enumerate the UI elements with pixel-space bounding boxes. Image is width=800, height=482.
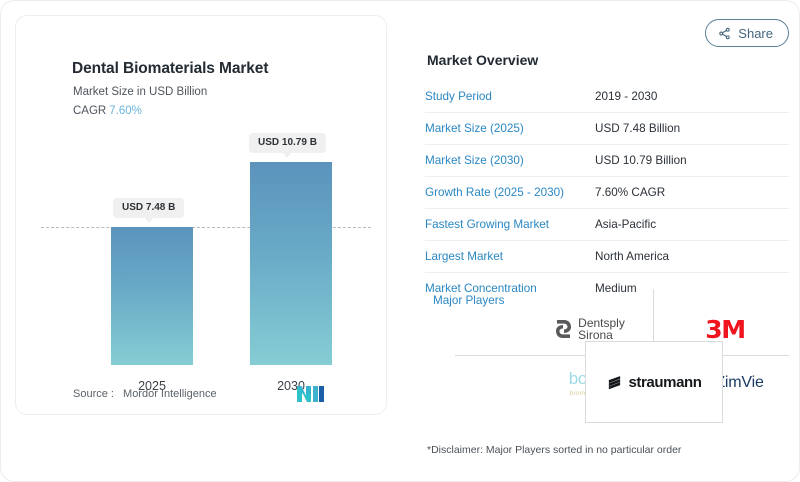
- row-key: Market Size (2025): [425, 122, 595, 135]
- row-value: North America: [595, 250, 669, 263]
- table-row: Growth Rate (2025 - 2030) 7.60% CAGR: [425, 177, 789, 209]
- disclaimer-text: *Disclaimer: Major Players sorted in no …: [427, 444, 681, 456]
- bar-chart-plot: USD 7.48 B USD 10.79 B 2025 2030: [31, 126, 387, 371]
- chart-card: Dental Biomaterials Market Market Size i…: [15, 15, 387, 415]
- share-button[interactable]: Share: [705, 19, 789, 47]
- overview-panel: Share Market Overview Study Period 2019 …: [409, 1, 800, 482]
- source-row: Source : Mordor Intelligence: [73, 388, 217, 400]
- row-value: 7.60% CAGR: [595, 186, 665, 199]
- 3m-wordmark: 3M: [705, 315, 744, 344]
- row-value: 2019 - 2030: [595, 90, 657, 103]
- table-row: Fastest Growing Market Asia-Pacific: [425, 209, 789, 241]
- cagr-value: 7.60%: [109, 105, 142, 117]
- bar-label-2030: USD 10.79 B: [249, 133, 326, 153]
- source-name: Mordor Intelligence: [123, 388, 217, 400]
- table-row: Study Period 2019 - 2030: [425, 81, 789, 113]
- row-key: Fastest Growing Market: [425, 218, 595, 231]
- table-row: Largest Market North America: [425, 241, 789, 273]
- major-players-grid: Major Players Dentsply Sirona: [425, 289, 789, 421]
- bar-label-2025: USD 7.48 B: [113, 198, 184, 218]
- cagr-row: CAGR7.60%: [73, 105, 142, 117]
- logo-straumann[interactable]: straumann: [585, 341, 723, 423]
- row-key: Study Period: [425, 90, 595, 103]
- mordor-intelligence-logo: [297, 384, 327, 404]
- cagr-label: CAGR: [73, 105, 106, 117]
- overview-table: Study Period 2019 - 2030 Market Size (20…: [425, 81, 789, 304]
- share-button-label: Share: [738, 26, 773, 41]
- chart-title: Dental Biomaterials Market: [72, 60, 268, 78]
- source-label: Source :: [73, 388, 114, 400]
- dentsply-line2: Sirona: [578, 329, 625, 342]
- table-row: Market Size (2030) USD 10.79 Billion: [425, 145, 789, 177]
- row-key: Market Size (2030): [425, 154, 595, 167]
- major-players-label: Major Players: [433, 294, 504, 307]
- bar-2030[interactable]: [250, 162, 332, 365]
- overview-title: Market Overview: [427, 52, 538, 68]
- dentsply-mark-icon: [555, 319, 572, 339]
- row-value: USD 10.79 Billion: [595, 154, 687, 167]
- table-row: Market Size (2025) USD 7.48 Billion: [425, 113, 789, 145]
- bar-2025[interactable]: [111, 227, 193, 365]
- straumann-wordmark: straumann: [628, 374, 701, 391]
- chart-subtitle: Market Size in USD Billion: [73, 86, 207, 98]
- row-key: Growth Rate (2025 - 2030): [425, 186, 595, 199]
- row-value: USD 7.48 Billion: [595, 122, 680, 135]
- row-value: Asia-Pacific: [595, 218, 656, 231]
- row-key: Largest Market: [425, 250, 595, 263]
- share-icon: [718, 27, 731, 40]
- straumann-mark-icon: [606, 374, 623, 391]
- market-summary-card: Dental Biomaterials Market Market Size i…: [0, 0, 800, 482]
